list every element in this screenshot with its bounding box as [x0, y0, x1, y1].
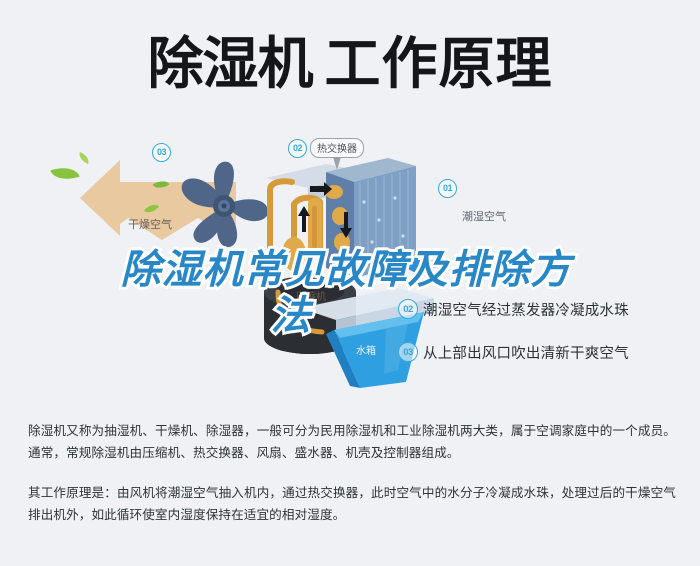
- label-water-tank: 水箱: [356, 342, 376, 357]
- body-paragraph-2: 其工作原理是：由风机将潮湿空气抽入机内，通过热交换器，此时空气中的水分子冷凝成水…: [28, 482, 676, 526]
- body-copy: 除湿机又称为抽湿机、干燥机、除湿器，一般可分为民用除湿机和工业除湿机两大类，属于…: [28, 420, 676, 526]
- marker-badge-03: 03: [152, 143, 171, 162]
- step-badge: 02: [398, 299, 418, 319]
- body-paragraph-1: 除湿机又称为抽湿机、干燥机、除湿器，一般可分为民用除湿机和工业除湿机两大类，属于…: [28, 420, 676, 464]
- step-list: 02 潮湿空气经过蒸发器冷凝成水珠 03 从上部出风口吹出清新干爽空气: [398, 299, 698, 385]
- marker-01: 01: [438, 178, 457, 198]
- label-compressor: 压缩机: [296, 288, 326, 303]
- step-badge: 03: [398, 342, 418, 362]
- page-title: 除湿机工作原理: [148, 36, 553, 92]
- marker-03: 03: [152, 142, 171, 162]
- heat-exchanger-label: 热交换器: [310, 138, 364, 158]
- marker-badge-01: 01: [438, 179, 457, 198]
- label-humid-air: 潮湿空气: [462, 208, 506, 224]
- page-title-part1: 除湿机: [148, 32, 313, 95]
- label-dry-air: 干燥空气: [128, 216, 172, 232]
- page-title-part2: 工作原理: [325, 32, 553, 95]
- list-item: 02 潮湿空气经过蒸发器冷凝成水珠: [398, 299, 698, 319]
- marker-badge-02: 02: [288, 139, 307, 158]
- list-item: 03 从上部出风口吹出清新干爽空气: [398, 342, 698, 362]
- page-header: 除湿机工作原理: [0, 18, 700, 110]
- step-text: 潮湿空气经过蒸发器冷凝成水珠: [423, 299, 629, 320]
- heat-exchanger-callout: 02 热交换器: [288, 138, 364, 158]
- step-text: 从上部出风口吹出清新干爽空气: [423, 342, 629, 363]
